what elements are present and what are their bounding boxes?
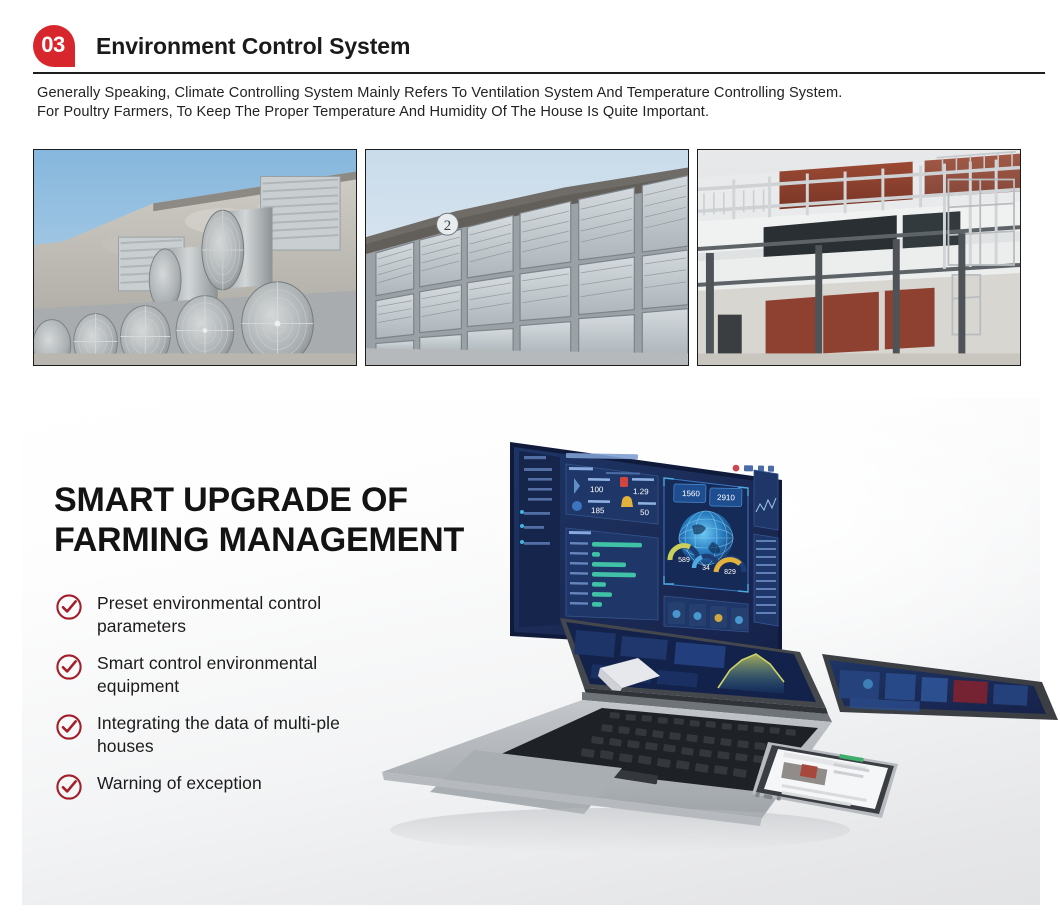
photo-cooling-pad-wall: 2 xyxy=(365,149,689,366)
feature-label: Warning of exception xyxy=(97,772,262,795)
check-circle-icon xyxy=(55,653,83,681)
list-item: Warning of exception xyxy=(55,772,395,801)
list-item: Smart control environmental equipment xyxy=(55,652,395,698)
photo-exhaust-fans xyxy=(33,149,357,366)
page-title: Environment Control System xyxy=(96,33,410,60)
svg-text:2: 2 xyxy=(444,218,451,234)
list-item: Integrating the data of multi-ple houses xyxy=(55,712,395,758)
check-circle-icon xyxy=(55,713,83,741)
headline-line-1: SMART UPGRADE OF xyxy=(54,480,484,520)
intro-paragraph: Generally Speaking, Climate Controlling … xyxy=(37,84,1027,122)
headline-line-2: FARMING MANAGEMENT xyxy=(54,520,484,560)
section-header: 03 Environment Control System xyxy=(33,16,1045,76)
page-root: 03 Environment Control System Generally … xyxy=(0,0,1060,919)
promo-headline: SMART UPGRADE OF FARMING MANAGEMENT xyxy=(54,480,484,560)
check-circle-icon xyxy=(55,773,83,801)
photo-strip: 2 xyxy=(33,149,1021,366)
section-number: 03 xyxy=(41,34,64,56)
photo-steel-structure xyxy=(697,149,1021,366)
feature-label: Preset environmental control parameters xyxy=(97,592,395,638)
intro-line-1: Generally Speaking, Climate Controlling … xyxy=(37,84,1027,103)
feature-list: Preset environmental control parameters … xyxy=(55,592,395,801)
feature-label: Integrating the data of multi-ple houses xyxy=(97,712,395,758)
check-circle-icon xyxy=(55,593,83,621)
section-number-badge: 03 xyxy=(33,25,75,67)
list-item: Preset environmental control parameters xyxy=(55,592,395,638)
feature-label: Smart control environmental equipment xyxy=(97,652,395,698)
header-divider xyxy=(33,72,1045,74)
intro-line-2: For Poultry Farmers, To Keep The Proper … xyxy=(37,103,1027,122)
